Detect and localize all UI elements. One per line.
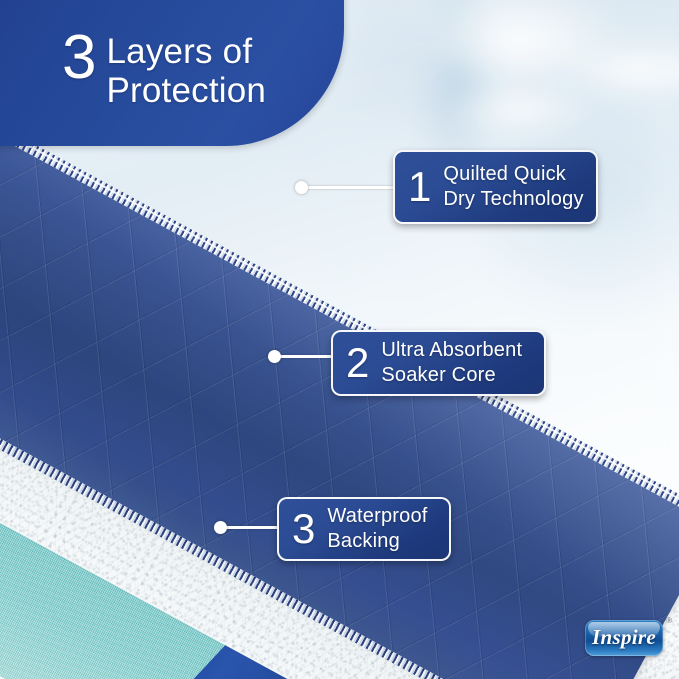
leader-dot-1 xyxy=(295,181,308,194)
brand-logo-inspire: Inspire ® xyxy=(585,620,663,656)
callout-2-line-1: Ultra Absorbent xyxy=(381,338,522,362)
callout-2-lines: Ultra Absorbent Soaker Core xyxy=(381,338,522,387)
title-number: 3 xyxy=(62,29,95,87)
callout-2-line-2: Soaker Core xyxy=(381,363,522,387)
callout-1-number: 1 xyxy=(408,166,431,208)
leader-dot-3 xyxy=(214,521,227,534)
callout-1-line-2: Dry Technology xyxy=(443,187,583,211)
callout-2-number: 2 xyxy=(346,342,369,384)
title-line-1: Layers of xyxy=(106,32,266,71)
callout-1-lines: Quilted Quick Dry Technology xyxy=(443,162,583,211)
callout-3-number: 3 xyxy=(292,508,315,550)
leader-line-3 xyxy=(224,526,280,529)
title-lines: Layers of Protection xyxy=(106,29,266,110)
callout-3-line-1: Waterproof xyxy=(327,504,427,528)
leader-line-1 xyxy=(304,186,396,189)
callout-quilted-quick-dry-technology: 1 Quilted Quick Dry Technology xyxy=(393,150,598,224)
leader-line-2 xyxy=(279,355,335,358)
product-layers-infographic: 3 Layers of Protection 1 Quilted Quick D… xyxy=(0,0,679,679)
title-line-2: Protection xyxy=(106,71,266,110)
callout-3-line-2: Backing xyxy=(327,529,427,553)
callout-1-line-1: Quilted Quick xyxy=(443,162,583,186)
logo-wordmark: Inspire xyxy=(585,620,663,656)
callout-3-lines: Waterproof Backing xyxy=(327,504,427,553)
leader-dot-2 xyxy=(268,350,281,363)
page-title: 3 Layers of Protection xyxy=(62,29,266,110)
registered-trademark-icon: ® xyxy=(666,617,672,625)
callout-waterproof-backing: 3 Waterproof Backing xyxy=(277,497,451,561)
callout-ultra-absorbent-soaker-core: 2 Ultra Absorbent Soaker Core xyxy=(331,330,546,396)
